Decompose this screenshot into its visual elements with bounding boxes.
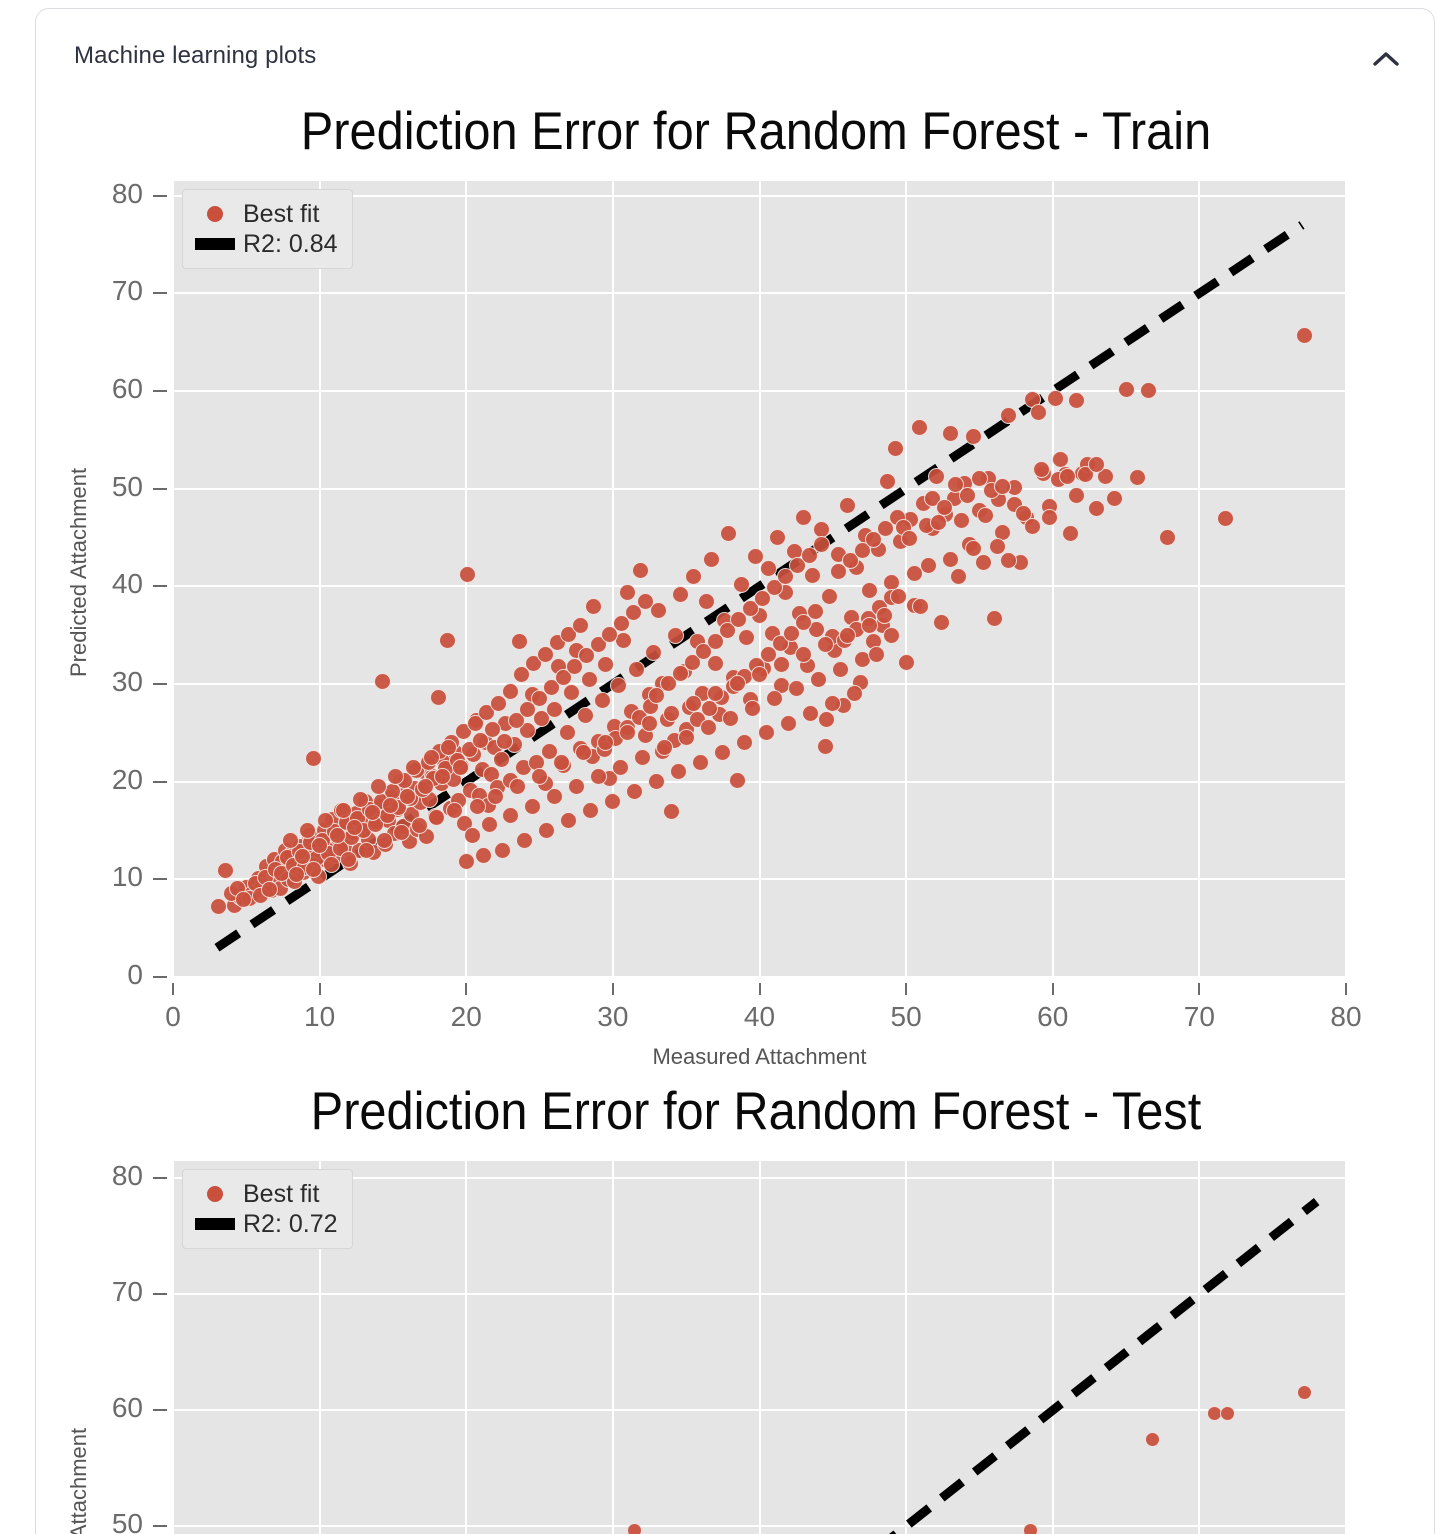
scatter-point bbox=[1059, 468, 1076, 485]
gridline-horizontal bbox=[173, 292, 1346, 294]
x-tick-mark bbox=[465, 983, 467, 995]
scatter-point bbox=[1145, 1432, 1160, 1447]
y-tick-mark bbox=[153, 1177, 167, 1179]
scatter-point bbox=[1062, 525, 1079, 542]
dashed-line-marker-icon bbox=[193, 238, 237, 250]
scatter-point bbox=[1140, 382, 1157, 399]
scatter-point bbox=[887, 440, 904, 457]
gridline-vertical bbox=[1345, 1161, 1346, 1534]
scatter-point bbox=[376, 832, 393, 849]
x-tick-mark bbox=[612, 983, 614, 995]
x-tick-mark bbox=[1198, 983, 1200, 995]
y-tick-mark bbox=[153, 1409, 167, 1411]
scatter-point bbox=[1296, 327, 1313, 344]
scatter-point bbox=[846, 685, 863, 702]
scatter-point bbox=[634, 749, 651, 766]
scatter-point bbox=[810, 671, 827, 688]
chart-test-title: Prediction Error for Random Forest - Tes… bbox=[149, 1085, 1363, 1138]
scatter-point bbox=[663, 803, 680, 820]
scatter-point bbox=[1068, 487, 1085, 504]
scatter-point bbox=[417, 778, 434, 795]
scatter-point bbox=[610, 677, 627, 694]
y-tick-mark bbox=[153, 488, 167, 490]
scatter-point bbox=[861, 617, 878, 634]
gridline-vertical bbox=[759, 1161, 761, 1534]
scatter-point bbox=[399, 788, 416, 805]
scatter-point bbox=[496, 733, 513, 750]
y-tick-mark bbox=[153, 878, 167, 880]
scatter-point bbox=[685, 568, 702, 585]
scatter-point bbox=[813, 536, 830, 553]
scatter-point bbox=[546, 788, 563, 805]
legend-entry: R2: 0.84 bbox=[193, 229, 338, 259]
scatter-point bbox=[516, 832, 533, 849]
screenshot-root: Machine learning plots Prediction Error … bbox=[0, 0, 1438, 1534]
scatter-point bbox=[335, 802, 352, 819]
y-tick-label: 70 bbox=[73, 275, 143, 307]
scatter-point bbox=[428, 809, 445, 826]
gridline-horizontal bbox=[173, 585, 1346, 587]
scatter-point bbox=[802, 705, 819, 722]
scatter-point bbox=[370, 778, 387, 795]
scatter-point bbox=[1106, 490, 1123, 507]
machine-learning-plots-card: Machine learning plots Prediction Error … bbox=[35, 8, 1435, 1534]
scatter-point bbox=[692, 754, 709, 771]
scatter-point bbox=[597, 734, 614, 751]
gridline-vertical bbox=[1198, 1161, 1200, 1534]
page-title: Machine learning plots bbox=[74, 42, 316, 70]
scatter-point bbox=[637, 593, 654, 610]
scatter-point bbox=[832, 661, 849, 678]
scatter-point bbox=[568, 778, 585, 795]
legend-label: Best fit bbox=[243, 1180, 319, 1209]
scatter-point bbox=[423, 749, 440, 766]
scatter-point bbox=[942, 425, 959, 442]
scatter-point bbox=[1068, 392, 1085, 409]
x-tick-mark bbox=[172, 983, 174, 995]
scatter-point bbox=[942, 551, 959, 568]
scatter-point bbox=[736, 734, 753, 751]
chart-test-ylabel: Predicted Attachment bbox=[66, 1428, 92, 1534]
scatter-point bbox=[648, 773, 665, 790]
legend-entry: R2: 0.72 bbox=[193, 1209, 338, 1239]
y-tick-mark bbox=[153, 683, 167, 685]
scatter-point bbox=[1159, 529, 1176, 546]
x-tick-mark bbox=[905, 983, 907, 995]
y-tick-label: 60 bbox=[73, 1392, 143, 1424]
scatter-point bbox=[817, 738, 834, 755]
gridline-horizontal bbox=[173, 390, 1346, 392]
scatter-point bbox=[619, 584, 636, 601]
scatter-point bbox=[563, 684, 580, 701]
scatter-point bbox=[839, 497, 856, 514]
scatter-point bbox=[645, 644, 662, 661]
scatter-point bbox=[807, 603, 824, 620]
gridline-vertical bbox=[465, 1161, 467, 1534]
scatter-point bbox=[641, 715, 658, 732]
gridline-vertical bbox=[173, 1161, 174, 1534]
scatter-point bbox=[707, 655, 724, 672]
gridline-horizontal bbox=[173, 488, 1346, 490]
x-tick-label: 60 bbox=[1013, 1001, 1093, 1033]
scatter-point bbox=[868, 646, 885, 663]
scatter-point bbox=[795, 509, 812, 526]
scatter-point bbox=[667, 627, 684, 644]
scatter-point bbox=[405, 759, 422, 776]
gridline-vertical bbox=[759, 181, 761, 977]
scatter-point bbox=[560, 812, 577, 829]
scatter-point bbox=[738, 629, 755, 646]
scatter-point bbox=[861, 582, 878, 599]
chart-train: Prediction Error for Random Forest - Tra… bbox=[36, 97, 1434, 1077]
scatter-point bbox=[729, 772, 746, 789]
scatter-point bbox=[989, 538, 1006, 555]
scatter-point bbox=[458, 853, 475, 870]
scatter-point bbox=[632, 562, 649, 579]
scatter-point bbox=[950, 568, 967, 585]
scatter-point bbox=[685, 695, 702, 712]
x-tick-label: 40 bbox=[720, 1001, 800, 1033]
scatter-point bbox=[839, 627, 856, 644]
scatter-point bbox=[804, 567, 821, 584]
scatter-point bbox=[509, 778, 526, 795]
scatter-point bbox=[936, 499, 953, 516]
scatter-point bbox=[311, 837, 328, 854]
circle-marker-icon bbox=[193, 1186, 237, 1202]
chart-train-plot-area bbox=[173, 181, 1346, 977]
scatter-point bbox=[452, 759, 469, 776]
scatter-point bbox=[217, 862, 234, 879]
scatter-point bbox=[627, 1523, 642, 1534]
x-tick-label: 80 bbox=[1306, 1001, 1386, 1033]
scatter-point bbox=[305, 750, 322, 767]
scatter-point bbox=[901, 530, 918, 547]
scatter-point bbox=[439, 632, 456, 649]
scatter-point bbox=[469, 798, 486, 815]
scatter-point bbox=[959, 487, 976, 504]
y-tick-label: 0 bbox=[73, 959, 143, 991]
scatter-point bbox=[577, 707, 594, 724]
y-tick-label: 80 bbox=[73, 1160, 143, 1192]
scatter-point bbox=[1033, 461, 1050, 478]
scatter-point bbox=[930, 514, 947, 531]
scatter-point bbox=[773, 656, 790, 673]
gridline-horizontal bbox=[173, 1525, 1346, 1527]
scatter-point bbox=[626, 783, 643, 800]
scatter-point bbox=[720, 525, 737, 542]
y-tick-label: 70 bbox=[73, 1276, 143, 1308]
x-tick-label: 0 bbox=[133, 1001, 213, 1033]
scatter-point bbox=[628, 661, 645, 678]
scatter-point bbox=[821, 588, 838, 605]
y-tick-mark bbox=[153, 976, 167, 978]
scatter-point bbox=[883, 627, 900, 644]
chevron-up-icon[interactable] bbox=[1366, 39, 1406, 79]
chart-train-ylabel: Predicted Attachment bbox=[66, 468, 92, 677]
scatter-point bbox=[656, 739, 673, 756]
y-tick-mark bbox=[153, 585, 167, 587]
scatter-point bbox=[1023, 1523, 1038, 1534]
scatter-point bbox=[604, 793, 621, 810]
gridline-vertical bbox=[1198, 181, 1200, 977]
scatter-point bbox=[965, 428, 982, 445]
scatter-point bbox=[597, 656, 614, 673]
scatter-point bbox=[678, 729, 695, 746]
x-tick-label: 50 bbox=[866, 1001, 946, 1033]
scatter-point bbox=[459, 566, 476, 583]
scatter-point bbox=[619, 724, 636, 741]
scatter-point bbox=[323, 856, 340, 873]
scatter-point bbox=[494, 842, 511, 859]
scatter-point bbox=[1088, 500, 1105, 517]
legend-label: R2: 0.84 bbox=[243, 230, 338, 259]
scatter-point bbox=[546, 701, 563, 718]
scatter-point bbox=[760, 560, 777, 577]
scatter-point bbox=[594, 692, 611, 709]
x-tick-mark bbox=[1052, 983, 1054, 995]
scatter-point bbox=[977, 507, 994, 524]
gridline-vertical bbox=[1052, 181, 1054, 977]
scatter-point bbox=[751, 666, 768, 683]
scatter-point bbox=[975, 554, 992, 571]
scatter-point bbox=[538, 822, 555, 839]
scatter-point bbox=[1297, 1385, 1312, 1400]
gridline-horizontal bbox=[173, 878, 1346, 880]
scatter-point bbox=[572, 617, 589, 634]
scatter-point bbox=[766, 690, 783, 707]
y-tick-mark bbox=[153, 1525, 167, 1527]
scatter-point bbox=[733, 576, 750, 593]
scatter-point bbox=[663, 705, 680, 722]
x-tick-mark bbox=[1345, 983, 1347, 995]
scatter-point bbox=[288, 866, 305, 883]
scatter-point bbox=[590, 768, 607, 785]
scatter-point bbox=[374, 673, 391, 690]
scatter-point bbox=[986, 610, 1003, 627]
scatter-point bbox=[382, 797, 399, 814]
chart-test: Prediction Error for Random Forest - Tes… bbox=[36, 1077, 1434, 1534]
gridline-vertical bbox=[612, 1161, 614, 1534]
scatter-point bbox=[261, 881, 278, 898]
scatter-point bbox=[430, 689, 447, 706]
chart-train-title: Prediction Error for Random Forest - Tra… bbox=[149, 105, 1363, 158]
gridline-horizontal bbox=[173, 683, 1346, 685]
scatter-point bbox=[758, 724, 775, 741]
scatter-point bbox=[1118, 381, 1135, 398]
scatter-point bbox=[703, 551, 720, 568]
scatter-point bbox=[928, 468, 945, 485]
legend-entry: Best fit bbox=[193, 1179, 338, 1209]
gridline-vertical bbox=[1052, 1161, 1054, 1534]
scatter-point bbox=[714, 744, 731, 761]
scatter-point bbox=[612, 759, 629, 776]
scatter-point bbox=[906, 565, 923, 582]
dashed-line-marker-icon bbox=[193, 1218, 237, 1230]
scatter-point bbox=[481, 816, 498, 833]
gridline-vertical bbox=[1345, 181, 1346, 977]
scatter-point bbox=[210, 898, 227, 915]
scatter-point bbox=[1024, 518, 1041, 535]
gridline-horizontal bbox=[173, 976, 1346, 977]
chart-test-legend: Best fit R2: 0.72 bbox=[182, 1169, 353, 1249]
y-tick-mark bbox=[153, 292, 167, 294]
scatter-point bbox=[933, 614, 950, 631]
scatter-point bbox=[440, 739, 457, 756]
scatter-point bbox=[1088, 456, 1105, 473]
scatter-point bbox=[700, 719, 717, 736]
chevron-up-glyph bbox=[1373, 51, 1399, 67]
scatter-point bbox=[898, 654, 915, 671]
scatter-point bbox=[1030, 404, 1047, 421]
y-tick-label: 10 bbox=[73, 861, 143, 893]
scatter-point bbox=[890, 588, 907, 605]
y-tick-label: 60 bbox=[73, 373, 143, 405]
scatter-point bbox=[670, 763, 687, 780]
scatter-point bbox=[747, 548, 764, 565]
scatter-point bbox=[698, 593, 715, 610]
gridline-horizontal bbox=[173, 781, 1346, 783]
y-tick-label: 20 bbox=[73, 764, 143, 796]
scatter-point bbox=[475, 847, 492, 864]
gridline-horizontal bbox=[173, 1409, 1346, 1411]
x-tick-mark bbox=[319, 983, 321, 995]
gridline-vertical bbox=[905, 181, 907, 977]
chart-train-xlabel: Measured Attachment bbox=[173, 1044, 1346, 1070]
scatter-point bbox=[1047, 390, 1064, 407]
y-tick-mark bbox=[153, 390, 167, 392]
y-tick-mark bbox=[153, 1293, 167, 1295]
scatter-point bbox=[965, 540, 982, 557]
scatter-point bbox=[502, 807, 519, 824]
scatter-point bbox=[788, 680, 805, 697]
x-tick-label: 30 bbox=[573, 1001, 653, 1033]
x-tick-label: 10 bbox=[280, 1001, 360, 1033]
x-tick-mark bbox=[759, 983, 761, 995]
scatter-point bbox=[1000, 407, 1017, 424]
scatter-point bbox=[876, 607, 893, 624]
scatter-point bbox=[585, 598, 602, 615]
scatter-point bbox=[769, 529, 786, 546]
scatter-point bbox=[493, 751, 510, 768]
legend-label: R2: 0.72 bbox=[243, 1210, 338, 1239]
scatter-point bbox=[818, 711, 835, 728]
y-tick-label: 80 bbox=[73, 178, 143, 210]
scatter-point bbox=[329, 827, 346, 844]
scatter-point bbox=[912, 598, 929, 615]
scatter-point bbox=[502, 683, 519, 700]
scatter-point bbox=[1129, 469, 1146, 486]
y-tick-mark bbox=[153, 195, 167, 197]
scatter-point bbox=[1041, 509, 1058, 526]
scatter-point bbox=[553, 754, 570, 771]
scatter-point bbox=[744, 700, 761, 717]
scatter-point bbox=[559, 724, 576, 741]
scatter-point bbox=[581, 671, 598, 688]
scatter-point bbox=[582, 802, 599, 819]
scatter-point bbox=[911, 419, 928, 436]
gridline-vertical bbox=[905, 1161, 907, 1534]
scatter-point bbox=[1052, 451, 1069, 468]
gridline-vertical bbox=[612, 181, 614, 977]
scatter-point bbox=[411, 817, 428, 834]
scatter-point bbox=[487, 788, 504, 805]
scatter-point bbox=[464, 827, 481, 844]
x-tick-label: 70 bbox=[1159, 1001, 1239, 1033]
gridline-horizontal bbox=[173, 1293, 1346, 1295]
legend-label: Best fit bbox=[243, 200, 319, 229]
circle-marker-icon bbox=[193, 206, 237, 222]
card-header: Machine learning plots bbox=[36, 9, 1434, 97]
scatter-point bbox=[722, 710, 739, 727]
legend-entry: Best fit bbox=[193, 199, 338, 229]
gridline-vertical bbox=[173, 181, 174, 977]
chart-train-legend: Best fit R2: 0.84 bbox=[182, 189, 353, 269]
scatter-point bbox=[1217, 510, 1234, 527]
scatter-point bbox=[1220, 1406, 1235, 1421]
scatter-point bbox=[879, 473, 896, 490]
scatter-point bbox=[358, 842, 375, 859]
scatter-point bbox=[524, 798, 541, 815]
scatter-point bbox=[575, 744, 592, 761]
scatter-point bbox=[672, 586, 689, 603]
scatter-point bbox=[780, 715, 797, 732]
scatter-point bbox=[729, 675, 746, 692]
scatter-point bbox=[511, 633, 528, 650]
y-tick-mark bbox=[153, 781, 167, 783]
scatter-point bbox=[282, 832, 299, 849]
x-tick-label: 20 bbox=[426, 1001, 506, 1033]
scatter-point bbox=[953, 512, 970, 529]
